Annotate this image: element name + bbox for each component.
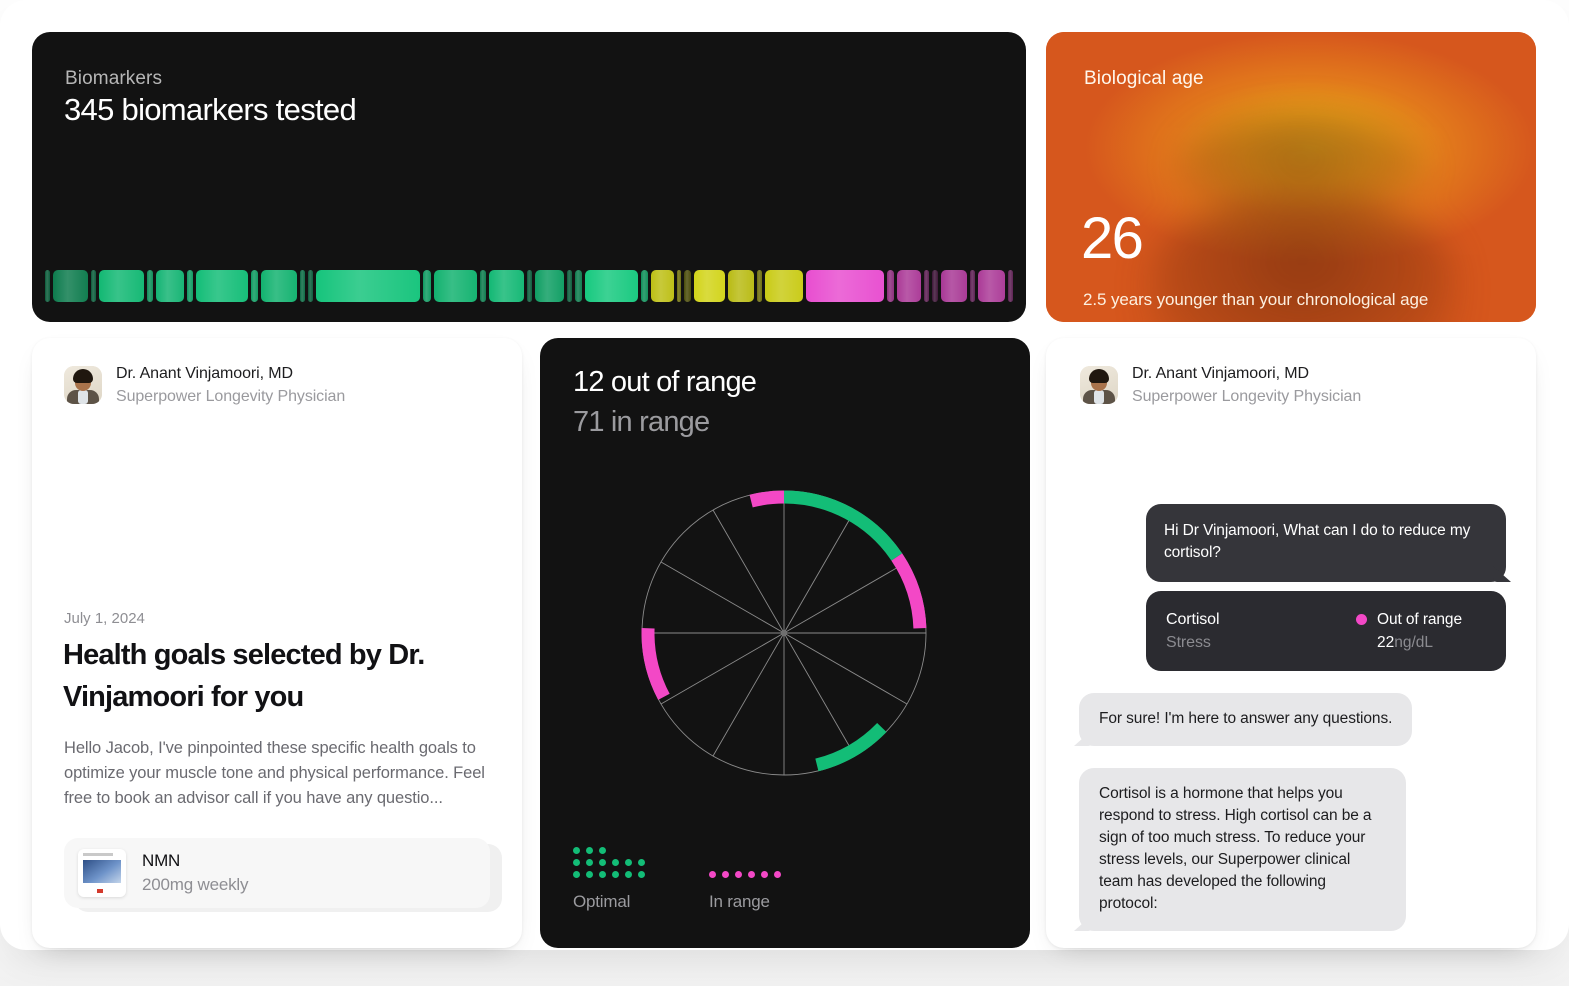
biomarker-segment[interactable] [187, 270, 193, 302]
biomarkers-label: Biomarkers [65, 68, 162, 90]
legend-label: Optimal [573, 892, 645, 912]
biomarker-segment[interactable] [677, 270, 681, 302]
biomarker-category: Stress [1166, 631, 1219, 654]
biomarker-segment[interactable] [887, 270, 894, 302]
biological-age-card[interactable]: Biological age 26 2.5 years younger than… [1046, 32, 1536, 322]
physician-header: Dr. Anant Vinjamoori, MD Superpower Long… [64, 362, 345, 408]
wheel-spoke [784, 633, 855, 756]
biomarker-segment[interactable] [806, 270, 884, 302]
biomarker-segment[interactable] [91, 270, 96, 302]
physician-role: Superpower Longevity Physician [116, 385, 345, 408]
page-title: Health goals selected by Dr. Vinjamoori … [63, 634, 483, 718]
wheel-arc-in-range[interactable] [897, 557, 920, 628]
biomarker-wheel-chart[interactable] [634, 483, 934, 783]
biomarker-segment[interactable] [585, 270, 639, 302]
legend-dot [722, 871, 729, 878]
biological-age-label: Biological age [1084, 68, 1204, 90]
legend-item-optimal: Optimal [573, 837, 645, 912]
biomarker-segment[interactable] [1008, 270, 1012, 302]
biomarker-segment[interactable] [53, 270, 88, 302]
legend-dot [638, 871, 645, 878]
legend-dot [612, 859, 619, 866]
legend-dot [761, 871, 768, 878]
biomarker-name: Cortisol [1166, 608, 1219, 631]
wheel-arc-in-range[interactable] [751, 497, 784, 501]
legend-dot-grid [709, 837, 781, 878]
biomarker-segment[interactable] [99, 270, 144, 302]
legend-dot [599, 859, 606, 866]
legend-dot [599, 847, 606, 854]
physician-header: Dr. Anant Vinjamoori, MD Superpower Long… [1080, 362, 1361, 408]
biomarker-segment[interactable] [694, 270, 725, 302]
biomarker-segment[interactable] [978, 270, 1006, 302]
wheel-spoke [784, 510, 855, 633]
physician-name: Dr. Anant Vinjamoori, MD [116, 362, 345, 385]
biomarker-segment[interactable] [527, 270, 532, 302]
biomarker-segment[interactable] [757, 270, 762, 302]
biomarker-segment[interactable] [897, 270, 921, 302]
biomarker-segment[interactable] [251, 270, 258, 302]
biological-age-value: 26 [1081, 210, 1142, 268]
biomarker-unit: ng/dL [1394, 634, 1433, 651]
wheel-center-dot [781, 630, 787, 636]
supplement-stack[interactable]: NMN 200mg weekly [64, 838, 496, 914]
biomarker-segment[interactable] [941, 270, 967, 302]
biomarker-segment[interactable] [45, 270, 50, 302]
legend-dot [735, 871, 742, 878]
biomarkers-headline: 345 biomarkers tested [64, 92, 356, 128]
legend-dot [586, 871, 593, 878]
legend-dot [709, 871, 716, 878]
biomarker-segment[interactable] [728, 270, 754, 302]
range-summary-card[interactable]: 12 out of range 71 in range OptimalIn ra… [540, 338, 1030, 948]
legend-dot [774, 871, 781, 878]
legend-dot [599, 871, 606, 878]
biomarker-segment[interactable] [156, 270, 184, 302]
legend-dot [586, 859, 593, 866]
biomarker-segment[interactable] [684, 270, 691, 302]
wheel-spoke [661, 633, 784, 704]
biomarker-segment[interactable] [567, 270, 571, 302]
legend-dot-grid [573, 837, 645, 878]
biomarker-segment[interactable] [575, 270, 582, 302]
biomarker-segment[interactable] [651, 270, 673, 302]
supplement-name: NMN [142, 849, 248, 873]
chat-message-doctor[interactable]: Cortisol is a hormone that helps you res… [1079, 768, 1406, 931]
wheel-arc-in-range[interactable] [648, 628, 664, 697]
biomarker-segment[interactable] [535, 270, 564, 302]
biomarker-segment[interactable] [147, 270, 153, 302]
wheel-arc-optimal[interactable] [784, 497, 897, 557]
biomarker-segment[interactable] [765, 270, 803, 302]
app-root: Biomarkers 345 biomarkers tested Biologi… [0, 0, 1569, 986]
avatar [64, 366, 102, 404]
wheel-spoke [784, 633, 907, 704]
biomarker-segment[interactable] [434, 270, 477, 302]
biomarker-segment[interactable] [489, 270, 524, 302]
wheel-spoke [784, 562, 907, 633]
legend-dot [625, 871, 632, 878]
physician-role: Superpower Longevity Physician [1132, 385, 1361, 408]
health-goals-card[interactable]: Dr. Anant Vinjamoori, MD Superpower Long… [32, 338, 522, 948]
biomarker-segment[interactable] [196, 270, 248, 302]
card-grid: Biomarkers 345 biomarkers tested Biologi… [32, 32, 1536, 938]
supplement-card[interactable]: NMN 200mg weekly [64, 838, 490, 908]
biomarker-segment[interactable] [423, 270, 431, 302]
biomarker-segment[interactable] [970, 270, 975, 302]
legend-dot [573, 847, 580, 854]
biomarker-segment[interactable] [316, 270, 420, 302]
wheel-spoke [713, 633, 784, 756]
biomarker-segment[interactable] [300, 270, 305, 302]
status-badge: Out of range [1377, 608, 1462, 631]
legend-dot [625, 859, 632, 866]
biomarker-value: 22ng/dL [1356, 631, 1486, 654]
health-goals-body: Hello Jacob, I've pinpointed these speci… [64, 736, 489, 811]
biomarker-segment[interactable] [924, 270, 929, 302]
biomarker-segment[interactable] [480, 270, 486, 302]
biomarker-segment[interactable] [641, 270, 648, 302]
avatar [1080, 366, 1118, 404]
biomarker-segment[interactable] [261, 270, 297, 302]
legend-label: In range [709, 892, 781, 912]
legend-dot [573, 859, 580, 866]
chat-thread[interactable]: Hi Dr Vinjamoori, What can I do to reduc… [1046, 504, 1536, 931]
person-silhouette-icon [1139, 78, 1469, 322]
chat-message-user[interactable]: Hi Dr Vinjamoori, What can I do to reduc… [1146, 504, 1506, 582]
wheel-spoke [661, 562, 784, 633]
legend-item-in_range: In range [709, 837, 781, 912]
biomarker-segment[interactable] [308, 270, 313, 302]
physician-chat-card[interactable]: Dr. Anant Vinjamoori, MD Superpower Long… [1046, 338, 1536, 948]
status-dot-icon [1356, 614, 1367, 625]
biomarker-segment[interactable] [932, 270, 937, 302]
biological-age-subtitle: 2.5 years younger than your chronologica… [1083, 290, 1428, 310]
wheel-spoke [713, 510, 784, 633]
biomarker-distribution-strip[interactable] [45, 269, 1013, 303]
wheel-arc-optimal[interactable] [817, 727, 882, 764]
legend-dot [748, 871, 755, 878]
legend-dot [638, 859, 645, 866]
post-date: July 1, 2024 [64, 610, 145, 627]
legend-dot [573, 871, 580, 878]
wheel-legend: OptimalIn range [573, 837, 781, 912]
supplement-dose: 200mg weekly [142, 873, 248, 897]
legend-dot [586, 847, 593, 854]
biomarkers-card[interactable]: Biomarkers 345 biomarkers tested [32, 32, 1026, 322]
physician-name: Dr. Anant Vinjamoori, MD [1132, 362, 1361, 385]
legend-dot [612, 871, 619, 878]
supplement-box-icon [78, 849, 126, 897]
out-of-range-headline: 12 out of range [573, 366, 756, 399]
biomarker-chip[interactable]: Cortisol Stress Out of range 22ng/dL [1146, 591, 1506, 671]
chat-message-doctor[interactable]: For sure! I'm here to answer any questio… [1079, 693, 1412, 746]
dashboard-surface: Biomarkers 345 biomarkers tested Biologi… [0, 0, 1569, 950]
in-range-headline: 71 in range [573, 406, 709, 439]
